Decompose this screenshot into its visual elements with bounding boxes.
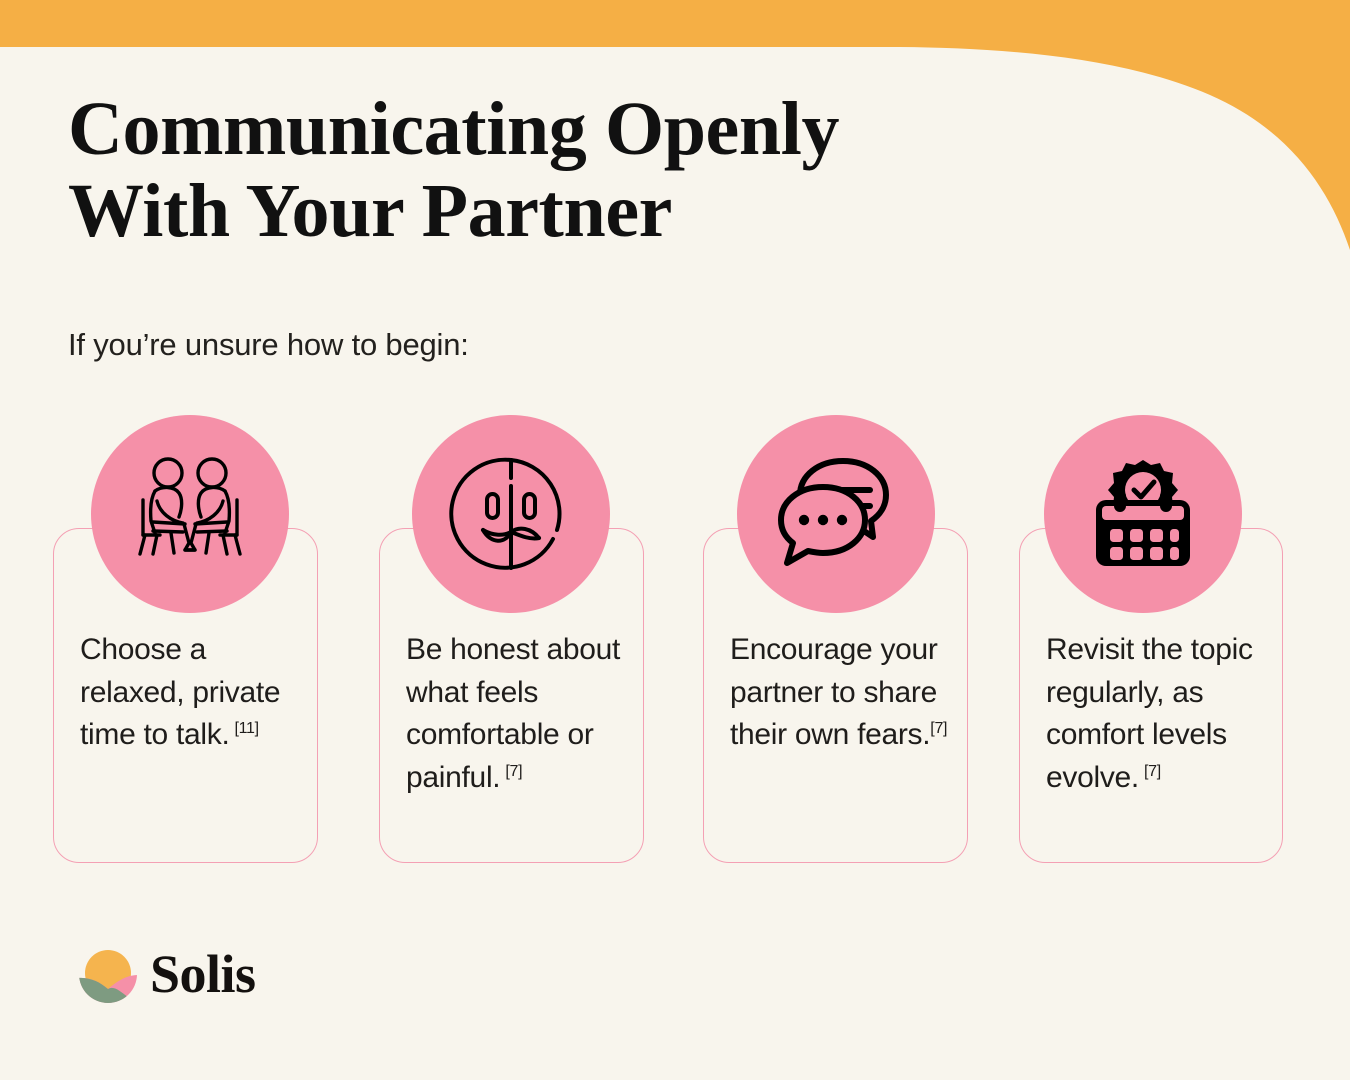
citation-marker: [7]: [505, 763, 522, 780]
speech-bubbles-icon: [773, 457, 899, 571]
citation-marker: [7]: [930, 720, 947, 737]
icon-badge-mixed-feelings-face: [412, 415, 610, 613]
two-people-talking-icon: [127, 451, 253, 577]
card-text: Be honest about what feels comfortable o…: [406, 629, 628, 799]
half-smile-half-frown-face-icon: [449, 452, 573, 576]
card-body-text: Encourage your partner to share their ow…: [730, 633, 938, 751]
infographic-canvas: Communicating Openly With Your Partner I…: [0, 0, 1350, 1080]
card-text: Choose a relaxed, private time to talk.[…: [80, 629, 302, 757]
brand-logo[interactable]: Solis: [78, 944, 256, 1004]
header-block: Communicating Openly With Your Partner: [68, 88, 1068, 252]
logo-wordmark: Solis: [150, 947, 256, 1001]
subtitle: If you’re unsure how to begin:: [68, 327, 469, 363]
icon-badge-calendar-recurring: [1044, 415, 1242, 613]
page-title: Communicating Openly With Your Partner: [68, 88, 1068, 252]
cards-row: Choose a relaxed, private time to talk.[…: [0, 415, 1350, 875]
card-text: Encourage your partner to share their ow…: [730, 629, 952, 757]
citation-marker: [11]: [234, 720, 258, 737]
icon-badge-two-people-talking: [91, 415, 289, 613]
calendar-gear-check-icon: [1083, 454, 1203, 574]
sun-over-hills-icon: [78, 944, 138, 1004]
card-text: Revisit the topic regularly, as comfort …: [1046, 629, 1276, 799]
icon-badge-speech-bubbles: [737, 415, 935, 613]
citation-marker: [7]: [1144, 763, 1161, 780]
